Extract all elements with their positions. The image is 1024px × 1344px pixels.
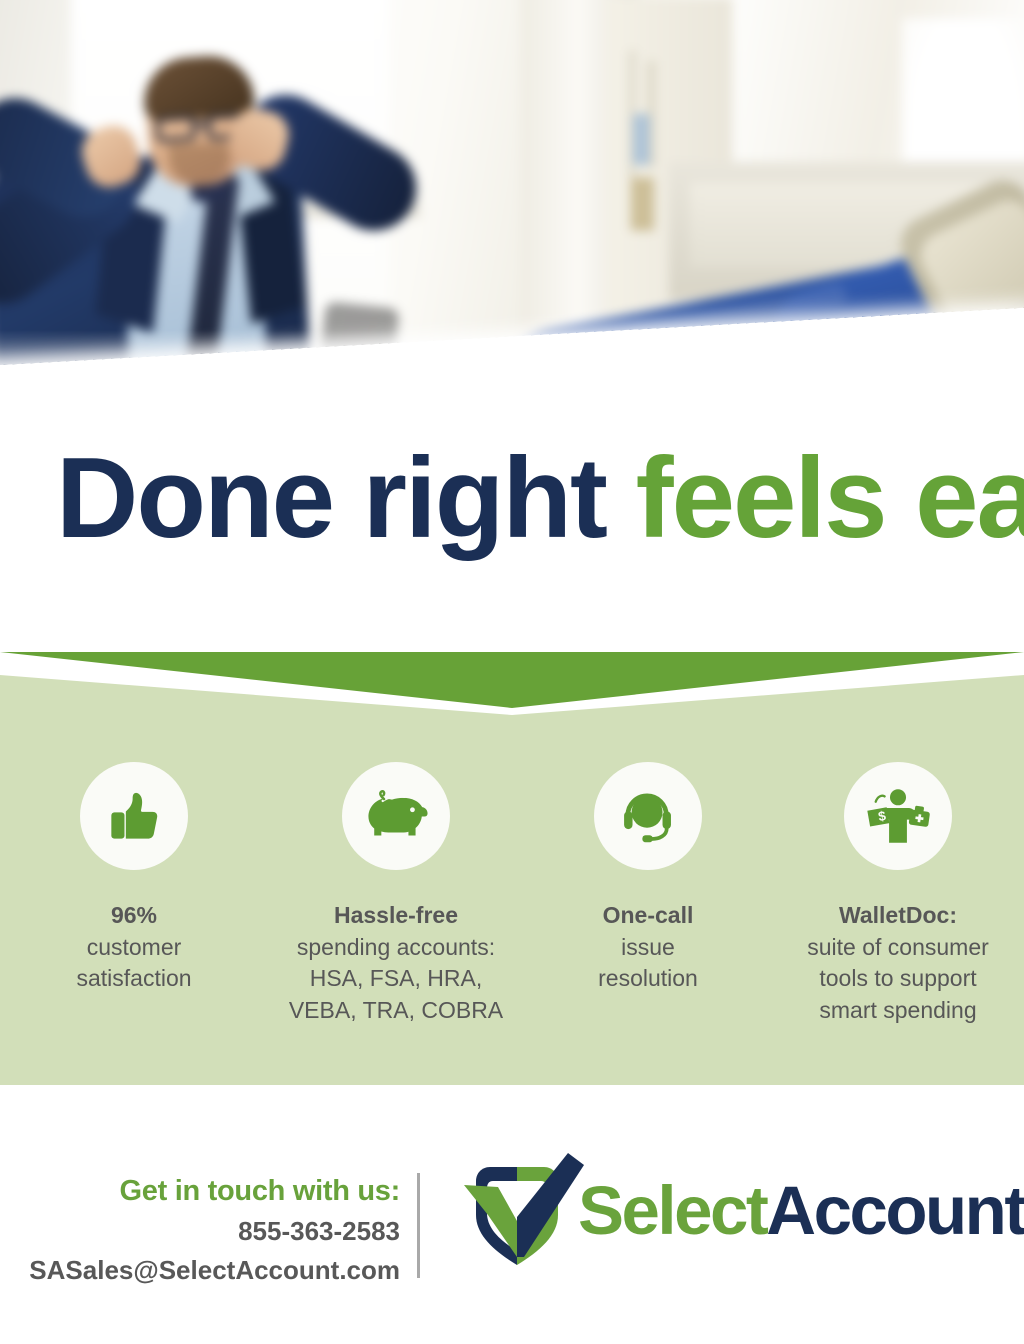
contact-heading: Get in touch with us: (0, 1175, 400, 1208)
piggy-bank-icon (342, 762, 450, 870)
feature-line: smart spending (819, 997, 976, 1023)
contact-phone[interactable]: 855-363-2583 (0, 1216, 400, 1247)
headline-section: Done right feels easy (0, 436, 1024, 628)
cabinet-folder-tan (631, 178, 654, 231)
feature-line: customer (87, 934, 182, 960)
brand-word-account: Account (766, 1172, 1024, 1249)
flyer-page: Done right feels easy 96% customer satis… (0, 0, 1024, 1344)
footer-divider (417, 1173, 420, 1278)
feature-line: suite of consumer (807, 934, 989, 960)
page-title: Done right feels easy (56, 442, 1016, 556)
cabinet-folder-blue (633, 114, 650, 165)
feature-line: resolution (598, 965, 698, 991)
select-account-shield-check-logo (460, 1153, 584, 1277)
feature-title: One-call (598, 900, 698, 932)
feature-line: spending accounts: (297, 934, 495, 960)
features-row: 96% customer satisfaction Hassle-free (0, 745, 1024, 1027)
footer: Get in touch with us: 855-363-2583 SASal… (0, 1085, 1024, 1344)
feature-line: satisfaction (76, 965, 191, 991)
headset-icon (594, 762, 702, 870)
feature-line: HSA, FSA, HRA, (310, 965, 483, 991)
features-band: 96% customer satisfaction Hassle-free (0, 745, 1024, 1085)
hero-white-fade (0, 330, 1024, 440)
headline-part-navy: Done right (56, 435, 606, 562)
feature-line: issue (621, 934, 675, 960)
feature-line: VEBA, TRA, COBRA (289, 997, 503, 1023)
headline-part-green: feels easy (606, 435, 1024, 562)
feature-title: 96% (76, 900, 191, 932)
brand-word-select: Select (578, 1172, 766, 1249)
feature-title: WalletDoc: (807, 900, 989, 932)
hero-photo (0, 0, 1024, 440)
feature-caption: 96% customer satisfaction (76, 900, 191, 995)
feature-one-call: One-call issue resolution (524, 745, 772, 1027)
feature-satisfaction: 96% customer satisfaction (0, 745, 268, 1027)
feature-caption: Hassle-free spending accounts: HSA, FSA,… (289, 900, 503, 1027)
feature-caption: One-call issue resolution (598, 900, 698, 995)
feature-caption: WalletDoc: suite of consumer tools to su… (807, 900, 989, 1027)
brand-logo[interactable]: SelectAccount® (460, 1155, 1000, 1275)
feature-title: Hassle-free (289, 900, 503, 932)
feature-line: tools to support (819, 965, 976, 991)
feature-spending-accounts: Hassle-free spending accounts: HSA, FSA,… (268, 745, 524, 1027)
glasses-lens-left (155, 115, 197, 143)
chevron-divider (0, 625, 1024, 745)
consumer-tools-icon: $ (844, 762, 952, 870)
feature-walletdoc: $ WalletDoc: suite of consumer tools to … (772, 745, 1024, 1027)
contact-block: Get in touch with us: 855-363-2583 SASal… (0, 1175, 400, 1286)
contact-email[interactable]: SASales@SelectAccount.com (0, 1255, 400, 1286)
thumbs-up-icon (80, 762, 188, 870)
brand-wordmark: SelectAccount® (578, 1171, 1024, 1250)
